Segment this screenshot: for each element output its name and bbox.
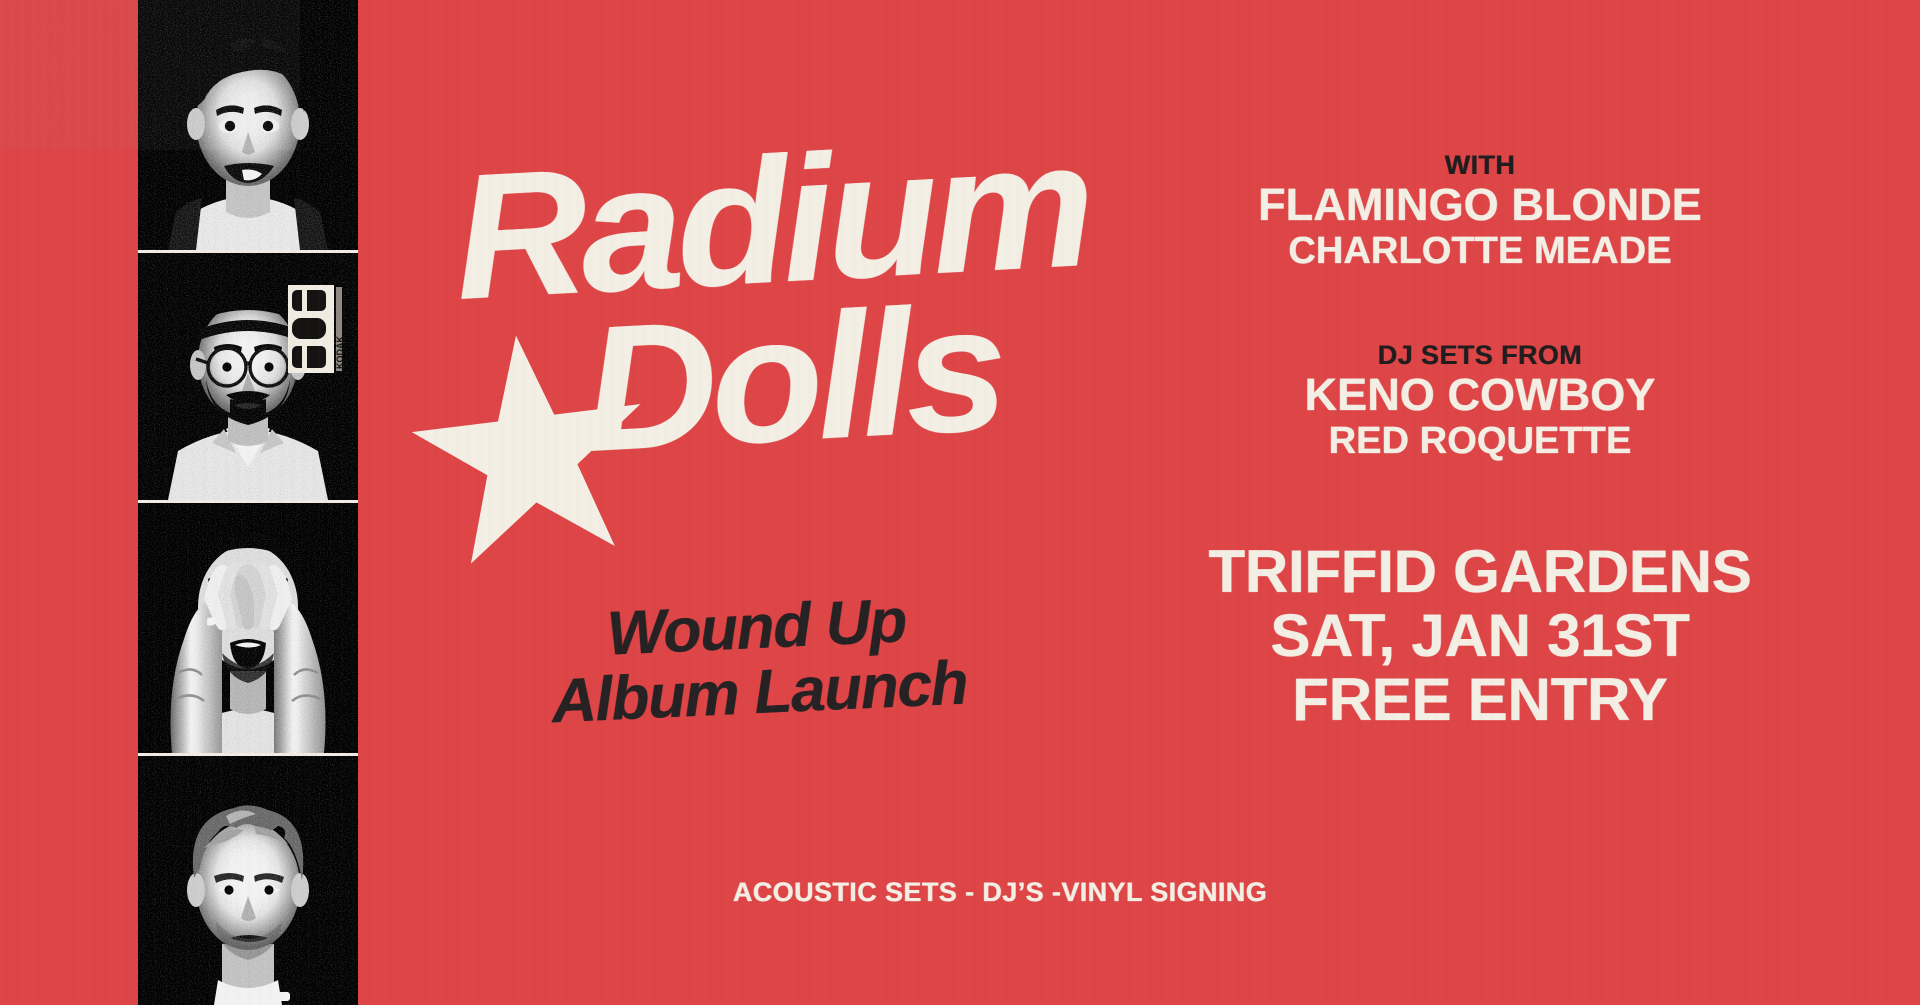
spacer-2 (1130, 462, 1830, 540)
portrait-photo-1 (138, 0, 358, 250)
footer-activities: ACOUSTIC SETS - DJ’S -VINYL SIGNING (0, 877, 1920, 908)
film-strip: KODAK (138, 0, 358, 1005)
dj-sets-block: DJ SETS FROM KENO COWBOY RED ROQUETTE (1130, 340, 1830, 462)
event-details-block: TRIFFID GARDENS SAT, JAN 31ST FREE ENTRY (1130, 540, 1830, 731)
lineup-column: WITH FLAMINGO BLONDE CHARLOTTE MEADE DJ … (1130, 150, 1830, 731)
film-edge-marking: KODAK (288, 285, 348, 373)
dj-sets-kicker: DJ SETS FROM (1130, 340, 1830, 371)
support-act-2: CHARLOTTE MEADE (1130, 230, 1830, 273)
film-frame-1 (138, 0, 358, 250)
support-acts-block: WITH FLAMINGO BLONDE CHARLOTTE MEADE (1130, 150, 1830, 272)
spacer-1 (1130, 272, 1830, 340)
poster-canvas: KODAK Radium Dolls Wound Up Album Launch… (0, 0, 1920, 1005)
venue-name: TRIFFID GARDENS (1130, 540, 1830, 604)
album-launch-subtitle: Wound Up Album Launch (435, 581, 1080, 740)
support-act-1: FLAMINGO BLONDE (1130, 181, 1830, 230)
dj-act-2: RED ROQUETTE (1130, 420, 1830, 463)
portrait-photo-3 (138, 503, 358, 753)
dj-act-1: KENO COWBOY (1130, 371, 1830, 420)
entry-price: FREE ENTRY (1130, 668, 1830, 732)
band-name-line-2: Dolls (581, 295, 1004, 463)
headline-lockup: Radium Dolls (395, 165, 1245, 515)
with-kicker: WITH (1130, 150, 1830, 181)
event-date: SAT, JAN 31ST (1130, 604, 1830, 668)
kodak-edge-text: KODAK (335, 336, 345, 369)
film-frame-3 (138, 503, 358, 753)
